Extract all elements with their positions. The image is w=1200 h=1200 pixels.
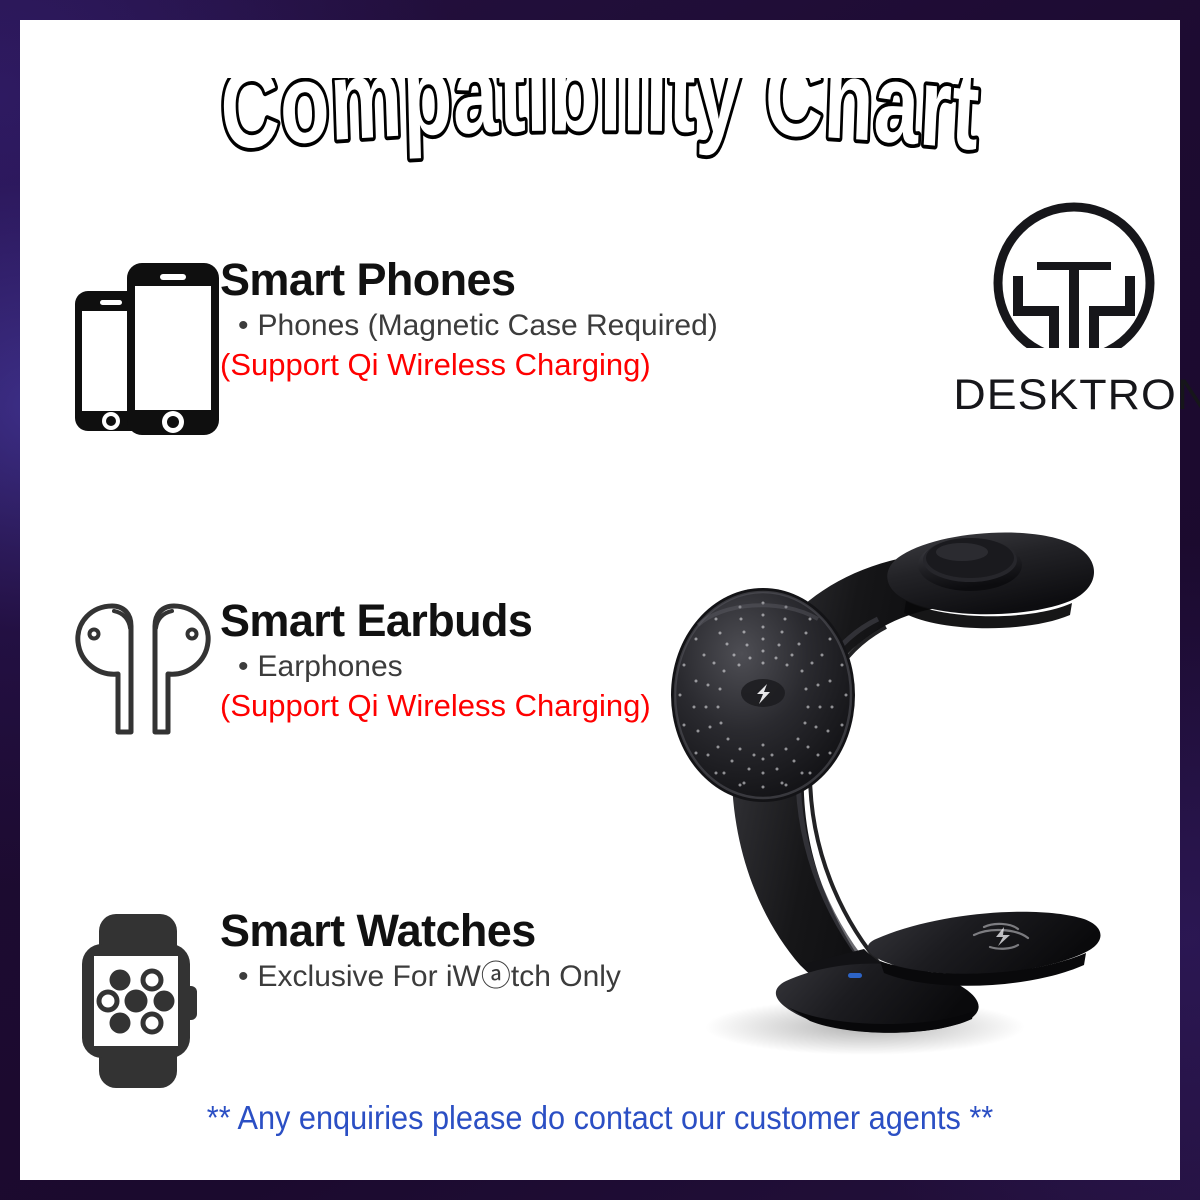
bullet-dot: • [238,960,249,993]
desktron-circle-desk-logo-icon [973,198,1175,368]
section-note: (Support Qi Wireless Charging) [220,687,651,724]
smartwatch-icon [72,908,217,1098]
section-bullet: •Exclusive For iWⓐtch Only [220,959,621,996]
bullet-dot: • [238,650,249,683]
two-smartphones-icon [65,253,230,443]
product-image [640,515,1110,1065]
section-title: Smart Earbuds [220,598,651,645]
bullet-text: Earphones [258,650,403,683]
wireless-earbuds-icon [68,600,218,785]
footer-note: ** Any enquiries please do contact our c… [61,1098,1140,1138]
brand-wordmark: DESKTRON [953,374,1194,417]
bullet-text: Exclusive For iWⓐtch Only [258,960,621,993]
page-title: Compatibility Chart [20,78,1180,178]
wireless-charging-stand-photo-icon [640,515,1110,1060]
section-smart-earbuds-text: Smart Earbuds •Earphones (Support Qi Wir… [220,598,651,725]
title-textpath: Compatibility Chart [218,78,983,174]
section-bullet: •Phones (Magnetic Case Required) [220,308,718,345]
section-title: Smart Phones [220,257,718,304]
section-title: Smart Watches [220,908,621,955]
title-outline-text: Compatibility Chart [100,78,1100,178]
section-note: (Support Qi Wireless Charging) [220,346,718,383]
bullet-dot: • [238,309,249,342]
section-smart-watches-text: Smart Watches •Exclusive For iWⓐtch Only [220,908,621,995]
section-bullet: •Earphones [220,649,651,686]
poster-frame: Compatibility Chart DESKTRON [0,0,1200,1200]
section-smart-phones-text: Smart Phones •Phones (Magnetic Case Requ… [220,257,718,384]
brand-logo: DESKTRON [958,198,1190,417]
svg-text:Compatibility Chart: Compatibility Chart [218,78,983,174]
poster-canvas: Compatibility Chart DESKTRON [20,20,1180,1180]
bullet-text: Phones (Magnetic Case Required) [258,309,718,342]
